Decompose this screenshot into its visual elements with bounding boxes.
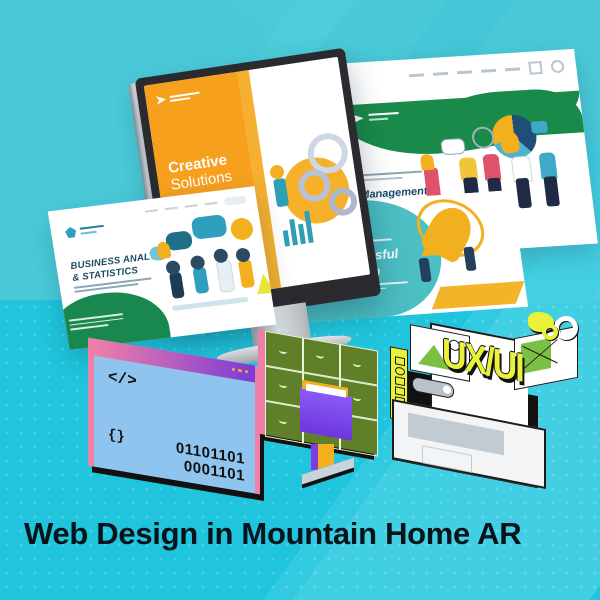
card-nav-menu xyxy=(408,60,565,83)
nav-cta-button xyxy=(224,195,247,206)
person-5 xyxy=(543,176,560,207)
person-1 xyxy=(423,168,441,199)
window-dots xyxy=(232,368,248,374)
person-3-top xyxy=(482,154,501,181)
person-figure xyxy=(216,260,236,293)
green-monitor-graphic xyxy=(258,340,388,480)
ux-ui-laptop-graphic: UX/UI xyxy=(382,318,582,490)
rocket-illustration xyxy=(403,197,512,295)
gear-icon-small xyxy=(542,324,558,340)
person-figure xyxy=(238,259,255,288)
astronaut-1 xyxy=(418,258,431,282)
person-figure xyxy=(169,272,185,299)
table-graphic xyxy=(172,297,248,311)
chart-icon xyxy=(531,121,548,134)
logo-arrow-icon xyxy=(155,95,166,105)
eyebrow-line-2 xyxy=(358,177,402,182)
hero-banner: Management Business Planning xyxy=(0,0,600,600)
bar-chart-bar xyxy=(298,224,306,245)
logo-mark-icon xyxy=(64,226,77,238)
speech-bubble xyxy=(440,138,466,155)
binary-text: 01101101 0001101 xyxy=(176,439,245,486)
person-5-top xyxy=(538,152,557,179)
code-brace-glyph: {} xyxy=(108,427,125,446)
bar-chart-bar xyxy=(289,219,298,245)
page-title: Web Design in Mountain Home AR xyxy=(24,516,521,552)
eyebrow-line xyxy=(358,171,422,177)
blob-text-lines xyxy=(69,313,125,333)
card-logo xyxy=(64,222,108,239)
business-analysis-card: BUSINESS ANALYSIS & STATISTICS xyxy=(48,186,276,350)
code-window-graphic: </> {} 01101101 0001101 xyxy=(88,352,260,480)
gear-icon xyxy=(554,316,578,340)
person-figure xyxy=(192,267,209,294)
bar-chart-bar xyxy=(283,230,290,247)
code-tag-glyph: </> xyxy=(108,368,137,391)
speech-bubble-large xyxy=(191,214,228,240)
person-1-top xyxy=(420,154,435,171)
toggle-knob xyxy=(443,385,451,395)
gear-circle-icon xyxy=(229,217,254,241)
folder-icon xyxy=(300,387,352,440)
person-4 xyxy=(515,178,532,209)
